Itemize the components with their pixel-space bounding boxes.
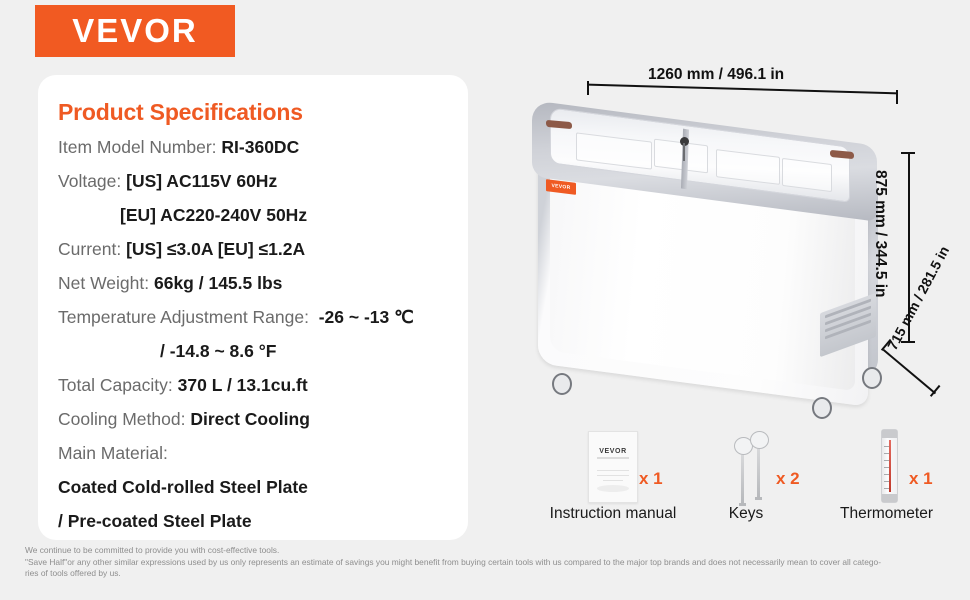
thermometer-tick: [884, 474, 889, 475]
spec-value: -26 ~ -13 ℃: [319, 307, 414, 327]
dimension-label-height: 875 mm / 344.5 in: [871, 170, 889, 298]
key-bit: [739, 503, 746, 506]
thermometer-tick: [884, 460, 889, 461]
accessory-instruction-manual: VEVOR x 1 Instruction manual: [533, 425, 693, 523]
spec-label: Main Material:: [58, 443, 168, 463]
page-title: Product Specifications: [58, 99, 468, 126]
freezer-caster: [812, 397, 832, 419]
freezer-basket: [782, 158, 832, 192]
spec-value: [US] AC115V 60Hz: [126, 171, 277, 191]
spec-value: [US] ≤3.0A [EU] ≤1.2A: [126, 239, 305, 259]
spec-row-voltage-us: Voltage: [US] AC115V 60Hz: [38, 164, 468, 198]
spec-label: Current:: [58, 239, 121, 259]
freezer-caster: [552, 373, 572, 395]
spec-value: / -14.8 ~ 8.6 °F: [160, 341, 276, 361]
spec-row-net-weight: Net Weight: 66kg / 145.5 lbs: [38, 266, 468, 300]
spec-value: 66kg / 145.5 lbs: [154, 273, 282, 293]
accessory-visual: VEVOR x 1: [533, 425, 693, 503]
spec-row-main-material-line2: / Pre-coated Steel Plate: [38, 504, 468, 538]
spec-label: Voltage:: [58, 171, 121, 191]
vevor-logo: VEVOR: [35, 5, 235, 57]
key-head: [750, 431, 769, 449]
accessory-label: Thermometer: [811, 505, 962, 523]
spec-value: Direct Cooling: [190, 409, 310, 429]
vevor-logo-text: VEVOR: [72, 12, 198, 50]
manual-footer-shape: [597, 485, 629, 492]
thermometer-column: [889, 440, 891, 492]
spec-row-current: Current: [US] ≤3.0A [EU] ≤1.2A: [38, 232, 468, 266]
freezer-caster: [862, 367, 882, 389]
key-icon: [734, 437, 751, 506]
disclaimer-line-2: "Save Half"or any other similar expressi…: [25, 557, 950, 569]
accessory-quantity: x 2: [776, 469, 800, 489]
thermometer-tick: [884, 453, 889, 454]
thermometer-tick: [884, 488, 889, 489]
manual-text-line: [597, 470, 629, 471]
accessory-thermometer: x 1 Thermometer: [817, 425, 962, 523]
dimension-cap-width-right: [896, 90, 898, 104]
thermometer-tick: [884, 446, 889, 447]
keys-icon: [730, 431, 776, 503]
spec-list: Item Model Number: RI-360DC Voltage: [US…: [38, 130, 468, 538]
thermometer-cap-top: [882, 430, 897, 438]
freezer-lock-stem: [683, 143, 685, 161]
spec-row-main-material: Main Material:: [38, 436, 468, 470]
spec-label: Total Capacity:: [58, 375, 173, 395]
chest-freezer-illustration: VEVOR: [510, 115, 910, 415]
key-icon: [750, 431, 767, 500]
accessory-quantity: x 1: [639, 469, 663, 489]
spec-row-cooling-method: Cooling Method: Direct Cooling: [38, 402, 468, 436]
spec-label: Cooling Method:: [58, 409, 185, 429]
key-shaft: [757, 449, 760, 497]
accessory-keys: x 2 Keys: [688, 425, 818, 523]
spec-row-voltage-eu: [EU] AC220-240V 50Hz: [38, 198, 468, 232]
spec-value: RI-360DC: [221, 137, 299, 157]
instruction-manual-icon: VEVOR: [588, 431, 638, 503]
disclaimer-line-3: ries of tools offered by us.: [25, 568, 950, 580]
spec-label: Item Model Number:: [58, 137, 217, 157]
thermometer-tick: [884, 481, 889, 482]
spec-row-main-material-line1: Coated Cold-rolled Steel Plate: [38, 470, 468, 504]
manual-text-line: [597, 475, 629, 476]
thermometer-tick: [884, 467, 889, 468]
accessory-visual: x 2: [688, 425, 818, 503]
spec-value: 370 L / 13.1cu.ft: [178, 375, 308, 395]
spec-value: / Pre-coated Steel Plate: [58, 511, 252, 531]
manual-text-line: [603, 480, 623, 481]
accessory-quantity: x 1: [909, 469, 933, 489]
manual-logo-text: VEVOR: [589, 448, 637, 455]
spec-row-item-model-number: Item Model Number: RI-360DC: [38, 130, 468, 164]
dimension-cap-width-left: [587, 81, 589, 95]
dimension-label-width: 1260 mm / 496.1 in: [648, 66, 784, 84]
product-spec-banner: VEVOR Product Specifications Item Model …: [0, 0, 970, 600]
thermometer-cap-bottom: [882, 494, 897, 502]
accessory-label: Keys: [674, 505, 818, 523]
spec-value: [EU] AC220-240V 50Hz: [120, 205, 307, 225]
spec-row-temperature-range-f: / -14.8 ~ 8.6 °F: [38, 334, 468, 368]
dimension-cap-height-top: [901, 152, 915, 154]
disclaimer-text: We continue to be committed to provide y…: [25, 545, 950, 580]
spec-label: Net Weight:: [58, 273, 149, 293]
accessory-label: Instruction manual: [533, 505, 693, 523]
thermometer-icon: [881, 429, 898, 503]
spec-row-total-capacity: Total Capacity: 370 L / 13.1cu.ft: [38, 368, 468, 402]
accessory-visual: x 1: [817, 425, 962, 503]
spec-row-temperature-range: Temperature Adjustment Range: -26 ~ -13 …: [38, 300, 468, 334]
key-bit: [755, 497, 762, 500]
spec-label: Temperature Adjustment Range:: [58, 307, 309, 327]
spec-value: Coated Cold-rolled Steel Plate: [58, 477, 308, 497]
manual-rule: [597, 457, 629, 459]
product-specifications-card: Product Specifications Item Model Number…: [38, 75, 468, 540]
disclaimer-line-1: We continue to be committed to provide y…: [25, 545, 950, 557]
accessories-list: VEVOR x 1 Instruction manual: [505, 425, 960, 540]
key-shaft: [741, 455, 744, 503]
